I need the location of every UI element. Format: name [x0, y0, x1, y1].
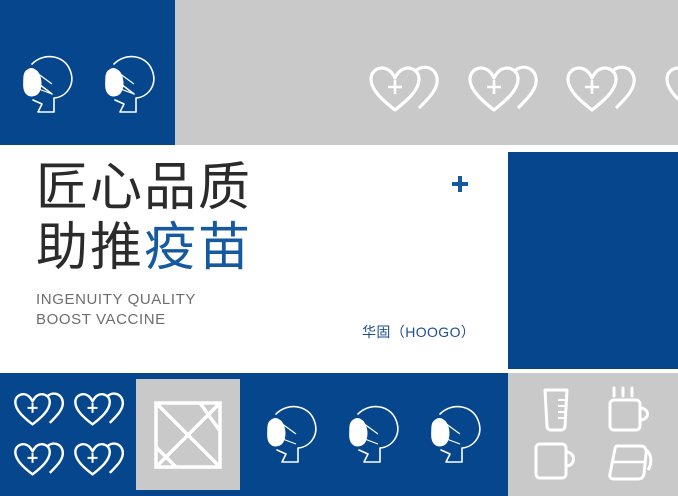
sanitizer-panel: [508, 152, 678, 369]
masked-face-icon: [422, 399, 490, 471]
masked-face-icon: [14, 50, 82, 120]
headline-line-2: 助推疫苗: [36, 218, 336, 278]
brand-name: 华固（HOOGO）: [362, 322, 475, 342]
crossed-box-placeholder-icon: [154, 401, 222, 469]
headline-block: 匠心品质 助推疫苗 INGENUITY QUALITY BOOST VACCIN…: [36, 158, 336, 330]
double-heart-plus-icon: [365, 62, 443, 118]
masked-face-icon-row: [14, 50, 164, 120]
mask-shape: [350, 419, 367, 446]
masked-face-icon: [96, 50, 164, 120]
mask-shape: [268, 419, 285, 446]
poster-canvas: 匠心品质 助推疫苗 INGENUITY QUALITY BOOST VACCIN…: [0, 0, 678, 496]
english-subtitle-line-1: INGENUITY QUALITY: [36, 290, 336, 310]
english-subtitle: INGENUITY QUALITY BOOST VACCINE: [36, 290, 336, 330]
double-heart-plus-icon: [11, 439, 67, 481]
headline-line-2-accent: 疫苗: [144, 218, 252, 278]
masked-face-icon-row-bottom: [258, 398, 490, 472]
placeholder-surface: [136, 379, 240, 490]
heart-plus-panel: [175, 0, 678, 145]
plus-cross-icon: [452, 176, 468, 192]
double-heart-plus-icon: [71, 389, 127, 431]
masked-face-icon: [258, 399, 326, 471]
double-heart-plus-icon: [464, 62, 542, 118]
double-heart-icon-grid: [10, 386, 128, 484]
beaker-icon: [534, 386, 578, 432]
headline-line-1: 匠心品质: [36, 158, 336, 218]
masked-face-icon: [340, 399, 408, 471]
double-heart-plus-icon: [11, 389, 67, 431]
image-placeholder-panel: [136, 373, 240, 496]
double-heart-plus-icon: [661, 62, 678, 118]
english-subtitle-line-2: BOOST VACCINE: [36, 310, 336, 330]
teapot-icon: [605, 440, 655, 482]
masked-face-panel: [0, 0, 175, 145]
double-heart-plus-icon: [562, 62, 640, 118]
steaming-cup-icon: [606, 386, 654, 432]
mug-icon: [533, 440, 579, 482]
headline-line-2-dark: 助推: [36, 218, 144, 278]
glassware-icon-grid: [520, 384, 666, 486]
double-heart-icon-row: [365, 60, 678, 120]
double-heart-plus-icon: [71, 439, 127, 481]
mask-shape: [24, 69, 41, 96]
mask-shape: [106, 69, 123, 96]
mask-shape: [432, 419, 449, 446]
